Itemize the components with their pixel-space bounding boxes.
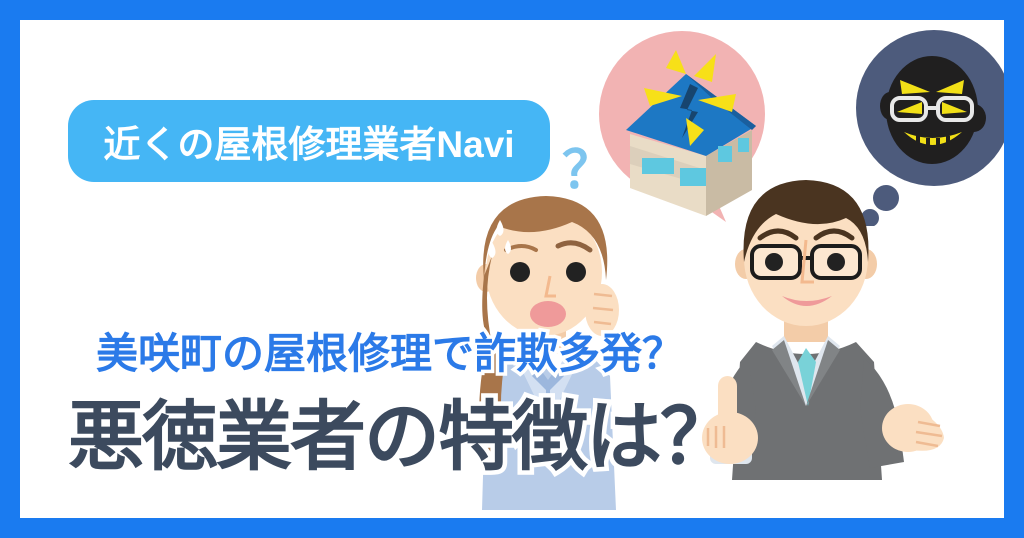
question-mark-decor: ？ — [562, 128, 614, 203]
businessman-head — [735, 180, 877, 326]
open-hand — [882, 404, 944, 452]
site-badge-label: 近くの屋根修理業者Navi — [103, 114, 514, 168]
poster-stage: 近くの屋根修理業者Navi ？ 美咲町の屋根修理で詐欺多発？ 悪徳業者の特徴は？ — [20, 20, 1004, 518]
poster-canvas: 近くの屋根修理業者Navi ？ 美咲町の屋根修理で詐欺多発？ 悪徳業者の特徴は？ — [0, 0, 1024, 538]
headline-title: 悪徳業者の特徴は？ — [68, 375, 734, 485]
businessman-body — [702, 298, 944, 480]
headline-subtitle: 美咲町の屋根修理で詐欺多発？ — [96, 320, 684, 381]
site-badge[interactable]: 近くの屋根修理業者Navi — [68, 100, 550, 182]
